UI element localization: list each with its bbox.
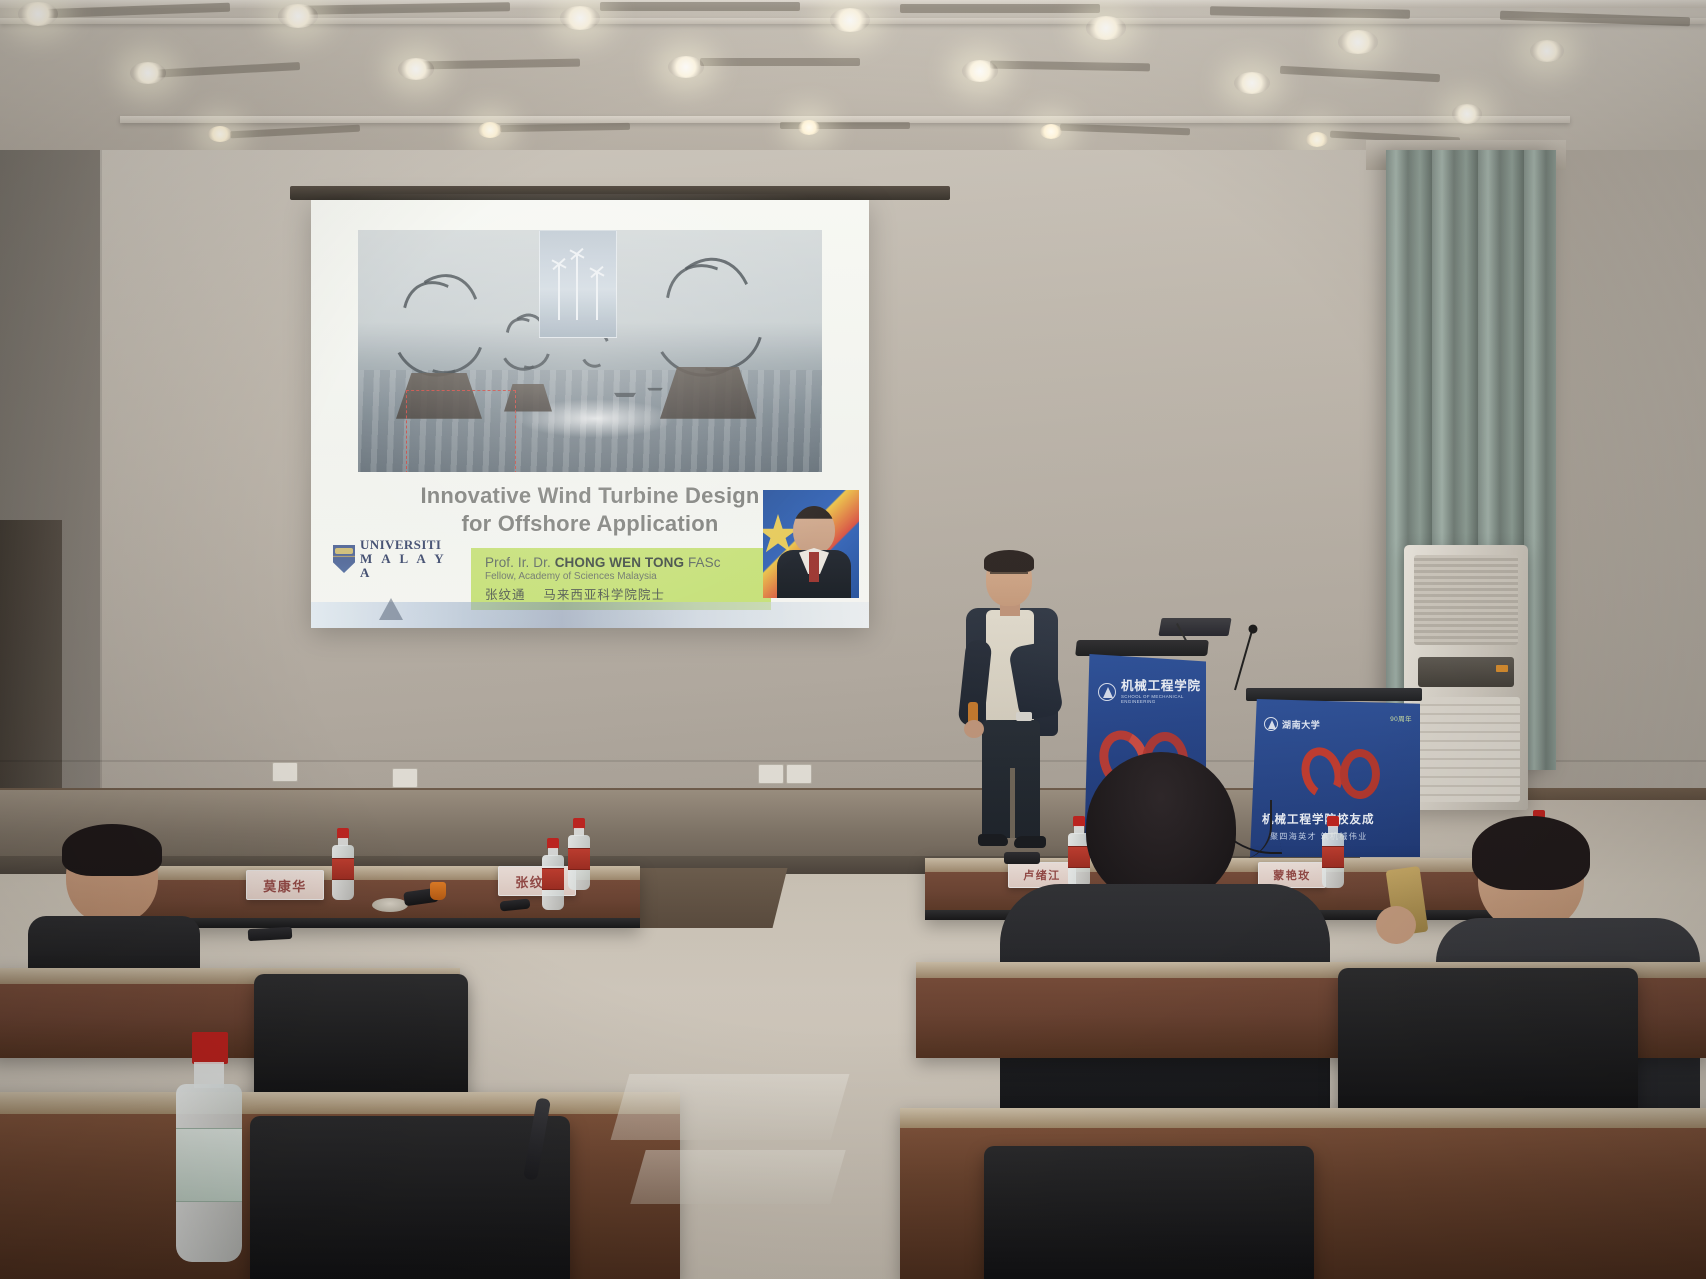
water-bottle[interactable] bbox=[568, 818, 590, 890]
slide-speaker-plate: Prof. Ir. Dr. CHONG WEN TONG FASc Fellow… bbox=[471, 548, 771, 610]
banner-logo-cn: 湖南大学 bbox=[1282, 718, 1320, 731]
ac-lower-louvers bbox=[1412, 697, 1520, 802]
ceiling-light bbox=[560, 6, 600, 30]
lectern-logo-en: SCHOOL OF MECHANICAL ENGINEERING bbox=[1121, 694, 1202, 704]
slide-footer-mark bbox=[379, 598, 403, 620]
slide-hero-image bbox=[358, 230, 822, 472]
ceiling-light bbox=[1530, 40, 1564, 62]
ac-status-led bbox=[1496, 665, 1508, 672]
wall-socket[interactable] bbox=[786, 764, 812, 784]
saucer[interactable] bbox=[372, 898, 408, 912]
universiti-malaya-logo: UNIVERSITI M A L A Y A bbox=[333, 538, 459, 580]
speaker-affiliation: Fellow, Academy of Sciences Malaysia bbox=[485, 571, 771, 582]
chair-bottom-center[interactable] bbox=[984, 1146, 1314, 1279]
wall-socket[interactable] bbox=[758, 764, 784, 784]
um-crest-icon bbox=[333, 545, 355, 573]
ceiling-light bbox=[130, 62, 166, 84]
banner-university-logo: 湖南大学 bbox=[1264, 717, 1320, 731]
slide-annotation-box bbox=[406, 390, 516, 472]
ceiling-downlight bbox=[798, 120, 820, 135]
water-bottle[interactable] bbox=[176, 1032, 242, 1262]
wristwatch bbox=[1016, 712, 1032, 721]
lectern-logo: 机械工程学院 SCHOOL OF MECHANICAL ENGINEERING bbox=[1098, 680, 1202, 704]
ceiling-light bbox=[668, 56, 704, 78]
water-bottle[interactable] bbox=[332, 828, 354, 900]
speaker-portrait bbox=[763, 490, 859, 598]
ceiling-light bbox=[278, 4, 318, 28]
speaker-prefix: Prof. Ir. Dr. bbox=[485, 555, 551, 570]
um-logo-line1: UNIVERSITI bbox=[360, 538, 459, 552]
chair-foreground-left[interactable] bbox=[254, 974, 468, 1104]
ceiling-light bbox=[1234, 72, 1270, 94]
head bbox=[1086, 752, 1236, 904]
ceiling-downlight bbox=[1040, 124, 1062, 139]
audience-member-left bbox=[22, 828, 202, 988]
water-bottle[interactable] bbox=[542, 838, 564, 910]
name-card: 张纹通 bbox=[498, 866, 576, 896]
slide-inset-photo bbox=[539, 230, 617, 338]
ceiling-light bbox=[398, 58, 434, 80]
hand bbox=[1376, 906, 1416, 944]
um-logo-line2: M A L A Y A bbox=[360, 552, 459, 580]
slide-turbine-left bbox=[388, 273, 492, 385]
lectern-surface bbox=[1075, 640, 1209, 656]
ac-control-panel[interactable] bbox=[1418, 657, 1514, 687]
ceiling-downlight bbox=[478, 122, 502, 138]
slide-turbine-right bbox=[650, 257, 770, 385]
speaker-title-line: Prof. Ir. Dr. CHONG WEN TONG FASc bbox=[485, 555, 771, 570]
name-card: 莫康华 bbox=[246, 870, 324, 900]
wall-socket[interactable] bbox=[272, 762, 298, 782]
ceiling-light bbox=[962, 60, 998, 82]
projection-screen: Innovative Wind Turbine Design for Offsh… bbox=[311, 200, 869, 628]
eyeglasses bbox=[990, 572, 1028, 580]
lectern-logo-cn: 机械工程学院 bbox=[1121, 680, 1202, 693]
lecture-hall-photo: Innovative Wind Turbine Design for Offsh… bbox=[0, 0, 1706, 1279]
smartphone[interactable] bbox=[248, 927, 293, 941]
slide-turbine-far bbox=[580, 332, 614, 370]
ceiling-light bbox=[1338, 30, 1378, 54]
chair-foreground-right[interactable] bbox=[1338, 968, 1638, 1118]
ceiling-light bbox=[830, 8, 870, 32]
school-emblem-icon bbox=[1098, 683, 1116, 701]
banner-corner-tag: 90周年 bbox=[1390, 713, 1412, 723]
speaker-name-cn: 张纹通 马来西亚科学院院士 bbox=[485, 584, 771, 603]
ceiling-light bbox=[18, 2, 58, 26]
ceiling-light bbox=[1086, 16, 1126, 40]
speaker-postnominal: FASc bbox=[688, 555, 721, 570]
ac-vent-grill bbox=[1414, 555, 1518, 645]
presentation-slide: Innovative Wind Turbine Design for Offsh… bbox=[311, 200, 869, 628]
university-emblem-icon bbox=[1264, 717, 1278, 731]
ceiling-light bbox=[1452, 104, 1482, 124]
lectern-laptop[interactable] bbox=[1158, 618, 1231, 636]
orange-cup[interactable] bbox=[430, 882, 446, 900]
ceiling-downlight bbox=[1306, 132, 1328, 147]
ceiling-downlight bbox=[208, 126, 232, 142]
document-paper[interactable] bbox=[630, 1150, 845, 1204]
document-paper[interactable] bbox=[611, 1074, 850, 1140]
wall-socket[interactable] bbox=[392, 768, 418, 788]
chair-bottom-left[interactable] bbox=[250, 1116, 570, 1279]
projector-screen-roller bbox=[290, 186, 950, 200]
lectern-secondary-surface bbox=[1246, 688, 1422, 701]
air-conditioner[interactable] bbox=[1404, 545, 1528, 810]
speaker-name: CHONG WEN TONG bbox=[555, 555, 684, 570]
